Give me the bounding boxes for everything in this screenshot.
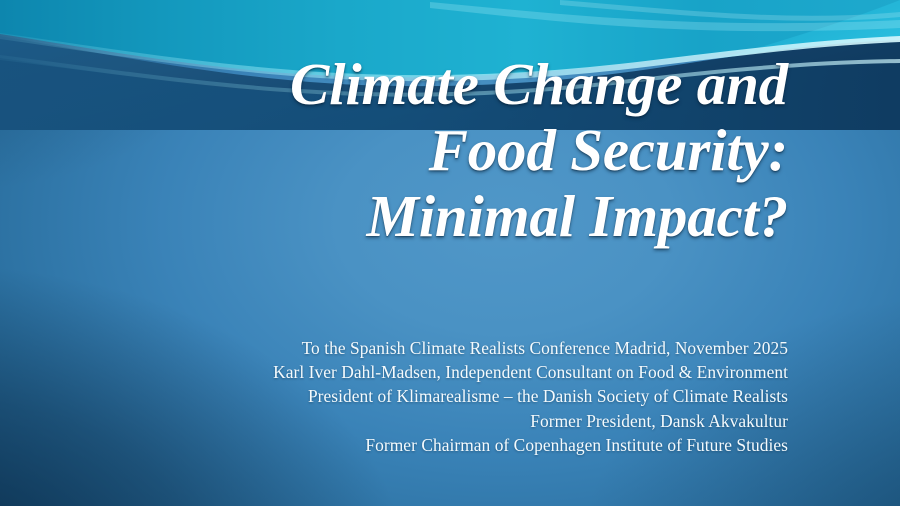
- title-line-1: Climate Change and: [60, 52, 788, 118]
- title-line-3: Minimal Impact?: [60, 184, 788, 250]
- subtitle-line-former-president: Former President, Dansk Akvakultur: [60, 409, 788, 433]
- title-line-2: Food Security:: [60, 118, 788, 184]
- subtitle-line-president: President of Klimarealisme – the Danish …: [60, 384, 788, 408]
- subtitle-line-presenter: Karl Iver Dahl-Madsen, Independent Consu…: [60, 360, 788, 384]
- slide-subtitle: To the Spanish Climate Realists Conferen…: [60, 336, 788, 457]
- presentation-slide: Climate Change and Food Security: Minima…: [0, 0, 900, 506]
- slide-title: Climate Change and Food Security: Minima…: [60, 52, 788, 249]
- subtitle-line-former-chairman: Former Chairman of Copenhagen Institute …: [60, 433, 788, 457]
- subtitle-line-conference: To the Spanish Climate Realists Conferen…: [60, 336, 788, 360]
